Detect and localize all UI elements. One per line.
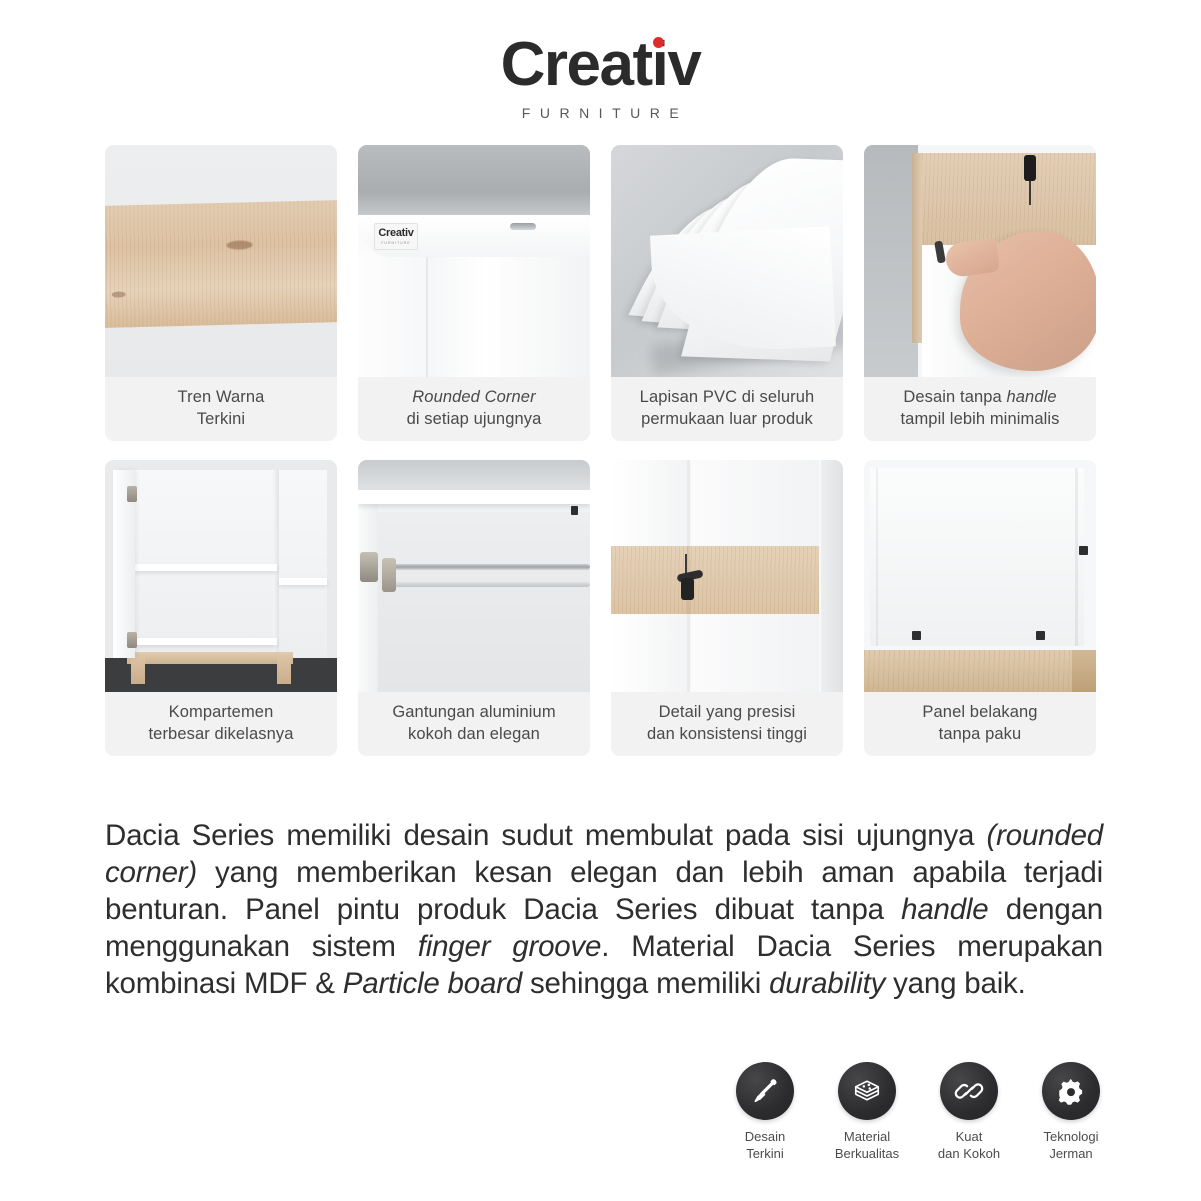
feature-card-panel-belakang[interactable]: Panel belakang tanpa paku <box>864 460 1096 756</box>
page-root: Creativ FURNITURE Tren Warna Terkini <box>0 0 1201 1201</box>
badge-label: Kuat dan Kokoh <box>938 1129 1000 1163</box>
feature-caption: Kompartemen terbesar dikelasnya <box>105 692 337 756</box>
feature-caption: Detail yang presisi dan konsistensi ting… <box>611 692 843 756</box>
caption-line-1: Lapisan PVC di seluruh <box>640 388 815 406</box>
fastener-clip-icon <box>1079 546 1088 555</box>
feature-card-rounded-corner[interactable]: Creativ FURNITURE Rounded Corner di seti… <box>358 145 590 441</box>
caption-line-1: Kompartemen <box>169 703 274 721</box>
feature-caption: Tren Warna Terkini <box>105 377 337 441</box>
sticker-brand: Creativ <box>378 228 413 239</box>
paintbrush-icon <box>736 1062 794 1120</box>
fastener-clip-icon <box>1036 631 1045 640</box>
desc-em-2: handle <box>901 893 988 926</box>
feature-caption: Gantungan aluminium kokoh dan elegan <box>358 692 590 756</box>
brand-logo: Creativ FURNITURE <box>0 0 1201 121</box>
product-brand-sticker: Creativ FURNITURE <box>374 223 418 250</box>
brand-tagline: FURNITURE <box>0 105 1201 121</box>
caption-line-2: terbesar dikelasnya <box>149 725 294 743</box>
gear-icon <box>1042 1062 1100 1120</box>
badge-desain-terkini: Desain Terkini <box>731 1062 799 1163</box>
caption-line-2: kokoh dan elegan <box>408 725 540 743</box>
desc-seg-5: sehingga memiliki <box>522 967 769 1000</box>
feature-card-detail-presisi[interactable]: Detail yang presisi dan konsistensi ting… <box>611 460 843 756</box>
feature-card-kompartemen[interactable]: Kompartemen terbesar dikelasnya <box>105 460 337 756</box>
aluminium-rod <box>388 564 590 570</box>
caption-line-2: Terkini <box>197 410 245 428</box>
feature-card-gantungan-aluminium[interactable]: Gantungan aluminium kokoh dan elegan <box>358 460 590 756</box>
hinge-icon <box>127 632 137 648</box>
badge-kuat-dan-kokoh: Kuat dan Kokoh <box>935 1062 1003 1163</box>
lock-key-icon <box>1024 155 1036 181</box>
caption-line-1: Gantungan aluminium <box>392 703 555 721</box>
caption-line-1: Tren Warna <box>178 388 265 406</box>
caption-line-1: Panel belakang <box>922 703 1037 721</box>
layered-board-icon <box>838 1062 896 1120</box>
product-slot-detail <box>510 223 536 230</box>
caption-line-1: Rounded Corner <box>412 388 535 406</box>
cabinet-rounded-corner-photo: Creativ FURNITURE <box>358 145 590 377</box>
open-cabinet-compartments-photo <box>105 460 337 692</box>
caption-line-1-pre: Desain tanpa <box>903 388 1006 406</box>
feature-caption: Lapisan PVC di seluruh permukaan luar pr… <box>611 377 843 441</box>
pvc-sheets-photo <box>611 145 843 377</box>
badge-material-berkualitas: Material Berkualitas <box>833 1062 901 1163</box>
trust-badges: Desain Terkini Material Berkualitas <box>731 1062 1105 1163</box>
badge-label: Desain Terkini <box>745 1129 785 1163</box>
hinge-icon <box>360 552 378 582</box>
badge-label: Material Berkualitas <box>835 1129 899 1163</box>
wardrobe-lock-detail-photo <box>611 460 843 692</box>
caption-line-2: permukaan luar produk <box>641 410 813 428</box>
desc-em-3: finger groove <box>418 930 602 963</box>
caption-line-2: tampil lebih minimalis <box>901 410 1060 428</box>
caption-line-2: tanpa paku <box>939 725 1022 743</box>
back-panel-no-nails-photo <box>864 460 1096 692</box>
sticker-sub: FURNITURE <box>381 241 411 245</box>
lock-key-icon <box>681 578 694 600</box>
fastener-clip-icon <box>912 631 921 640</box>
desc-em-4: Particle board <box>343 967 522 1000</box>
badge-label: Teknologi Jerman <box>1044 1129 1099 1163</box>
hand-finger-groove-photo <box>864 145 1096 377</box>
feature-card-tren-warna[interactable]: Tren Warna Terkini <box>105 145 337 441</box>
feature-card-lapisan-pvc[interactable]: Lapisan PVC di seluruh permukaan luar pr… <box>611 145 843 441</box>
caption-line-2: di setiap ujungnya <box>407 410 542 428</box>
feature-caption: Rounded Corner di setiap ujungnya <box>358 377 590 441</box>
desc-seg-1: Dacia Series memiliki desain sudut membu… <box>105 819 987 852</box>
desc-seg-6: yang baik. <box>885 967 1025 1000</box>
wood-grain-panel-photo <box>105 145 337 377</box>
feature-caption: Panel belakang tanpa paku <box>864 692 1096 756</box>
chain-link-icon <box>940 1062 998 1120</box>
caption-line-2: dan konsistensi tinggi <box>647 725 807 743</box>
feature-card-tanpa-handle[interactable]: Desain tanpa handle tampil lebih minimal… <box>864 145 1096 441</box>
brand-name-text: Creativ <box>501 30 701 99</box>
caption-line-1-em: handle <box>1006 388 1056 406</box>
desc-em-5: durability <box>769 967 885 1000</box>
brand-name: Creativ <box>501 34 701 96</box>
feature-caption: Desain tanpa handle tampil lebih minimal… <box>864 377 1096 441</box>
product-description: Dacia Series memiliki desain sudut membu… <box>105 818 1103 1002</box>
caption-line-1: Detail yang presisi <box>659 703 796 721</box>
badge-teknologi-jerman: Teknologi Jerman <box>1037 1062 1105 1163</box>
aluminium-hanging-rod-photo <box>358 460 590 692</box>
feature-grid: Tren Warna Terkini Creativ FURNITURE Rou… <box>105 145 1097 756</box>
hinge-icon <box>127 486 137 502</box>
